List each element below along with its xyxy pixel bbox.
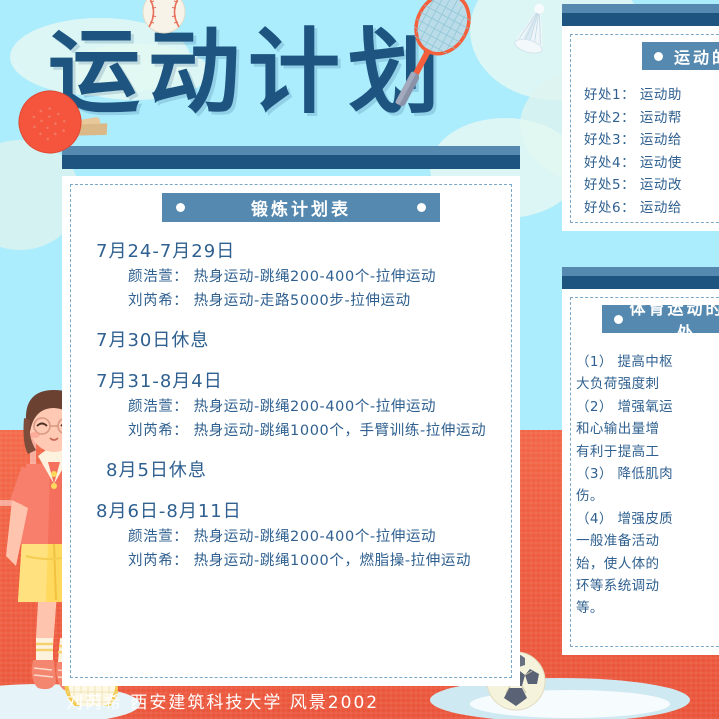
schedule-block: 7月30日休息 (96, 327, 498, 354)
benefits-card: 运动的好处 好处1： 运动助好处2： 运动帮好处3： 运动给好处4： 运动使好处… (562, 26, 719, 231)
sports-bar-bottom (562, 276, 719, 290)
baseball-icon (142, 0, 186, 34)
exercise-plan-title: 锻炼计划表 (185, 195, 417, 220)
benefits-bar-top (562, 4, 719, 13)
ping-pong-paddle-icon (18, 82, 110, 172)
sports-benefit-line: （3） 降低肌肉 (576, 463, 719, 485)
schedule-row: 刘芮希： 热身运动-走路5000步-拉伸运动 (96, 289, 498, 313)
benefits-list: 好处1： 运动助好处2： 运动帮好处3： 运动给好处4： 运动使好处5： 运动改… (584, 84, 719, 219)
schedule-block: 7月31-8月4日颜浩萱： 热身运动-跳绳200-400个-拉伸运动刘芮希： 热… (96, 368, 498, 443)
schedule-date: 7月31-8月4日 (96, 368, 498, 395)
exercise-plan-card: 锻炼计划表 7月24-7月29日颜浩萱： 热身运动-跳绳200-400个-拉伸运… (62, 176, 520, 686)
sports-benefit-line: 和心输出量增 (576, 418, 719, 440)
banner-bar-top (62, 146, 520, 155)
benefit-item: 好处3： 运动给 (584, 129, 719, 152)
header-dot-right-icon (417, 203, 426, 212)
benefits-card-header: 运动的好处 (642, 42, 719, 70)
benefits-header-dot-icon (654, 52, 663, 61)
schedule-row: 颜浩萱： 热身运动-跳绳200-400个-拉伸运动 (96, 525, 498, 549)
schedule-date: 8月6日-8月11日 (96, 498, 498, 525)
sports-benefit-line: （2） 增强氧运 (576, 396, 719, 418)
benefit-item: 好处5： 运动改 (584, 174, 719, 197)
schedule-row: 刘芮希： 热身运动-跳绳1000个，手臂训练-拉伸运动 (96, 419, 498, 443)
sports-benefit-line: 环等系统调动 (576, 575, 719, 597)
schedule-row: 颜浩萱： 热身运动-跳绳200-400个-拉伸运动 (96, 395, 498, 419)
banner-bar-bottom (62, 155, 520, 169)
benefit-item: 好处1： 运动助 (584, 84, 719, 107)
schedule-row: 刘芮希： 热身运动-跳绳1000个，燃脂操-拉伸运动 (96, 549, 498, 573)
sports-benefit-line: 伤。 (576, 485, 719, 507)
sports-benefits-text: （1） 提高中枢大负荷强度刺（2） 增强氧运和心输出量增有利于提高工（3） 降低… (576, 351, 719, 620)
poster-canvas: 运动计划 (0, 0, 719, 719)
schedule-row: 颜浩萱： 热身运动-跳绳200-400个-拉伸运动 (96, 265, 498, 289)
schedule-block: 7月24-7月29日颜浩萱： 热身运动-跳绳200-400个-拉伸运动刘芮希： … (96, 238, 498, 313)
schedule-date: 7月30日休息 (96, 327, 498, 354)
schedule-block: 8月5日休息 (96, 457, 498, 484)
shuttlecock-icon (512, 0, 556, 54)
benefits-banner-bar (562, 4, 719, 27)
sports-banner-bar (562, 267, 719, 290)
sports-benefit-line: （1） 提高中枢 (576, 351, 719, 373)
badminton-racket-icon (380, 0, 475, 118)
schedule-date: 7月24-7月29日 (96, 238, 498, 265)
benefits-title: 运动的好处 (663, 44, 719, 68)
schedule-list: 7月24-7月29日颜浩萱： 热身运动-跳绳200-400个-拉伸运动刘芮希： … (96, 238, 498, 587)
benefit-item: 好处2： 运动帮 (584, 107, 719, 130)
sports-benefit-line: 大负荷强度刺 (576, 373, 719, 395)
sports-benefits-card: 体育运动的好处 （1） 提高中枢大负荷强度刺（2） 增强氧运和心输出量增有利于提… (562, 289, 719, 655)
benefit-item: 好处6： 运动给 (584, 197, 719, 220)
sports-benefit-line: 有利于提高工 (576, 441, 719, 463)
benefit-item: 好处4： 运动使 (584, 152, 719, 175)
schedule-date: 8月5日休息 (96, 457, 498, 484)
sports-header-dot-icon (614, 315, 623, 324)
schedule-block: 8月6日-8月11日颜浩萱： 热身运动-跳绳200-400个-拉伸运动刘芮希： … (96, 498, 498, 573)
sports-benefit-line: 等。 (576, 597, 719, 619)
benefits-bar-bottom (562, 13, 719, 27)
header-dot-left-icon (176, 203, 185, 212)
footer-credit: 刘芮希 西安建筑科技大学 风景2002 (66, 688, 379, 713)
sports-benefit-line: 一般准备活动 (576, 530, 719, 552)
sports-bar-top (562, 267, 719, 276)
title-banner-bar (62, 146, 520, 169)
sports-card-header: 体育运动的好处 (602, 305, 719, 333)
sports-title: 体育运动的好处 (623, 295, 719, 343)
sports-benefit-line: 始，使人体的 (576, 553, 719, 575)
sports-benefit-line: （4） 增强皮质 (576, 508, 719, 530)
exercise-plan-card-header: 锻炼计划表 (162, 193, 440, 222)
